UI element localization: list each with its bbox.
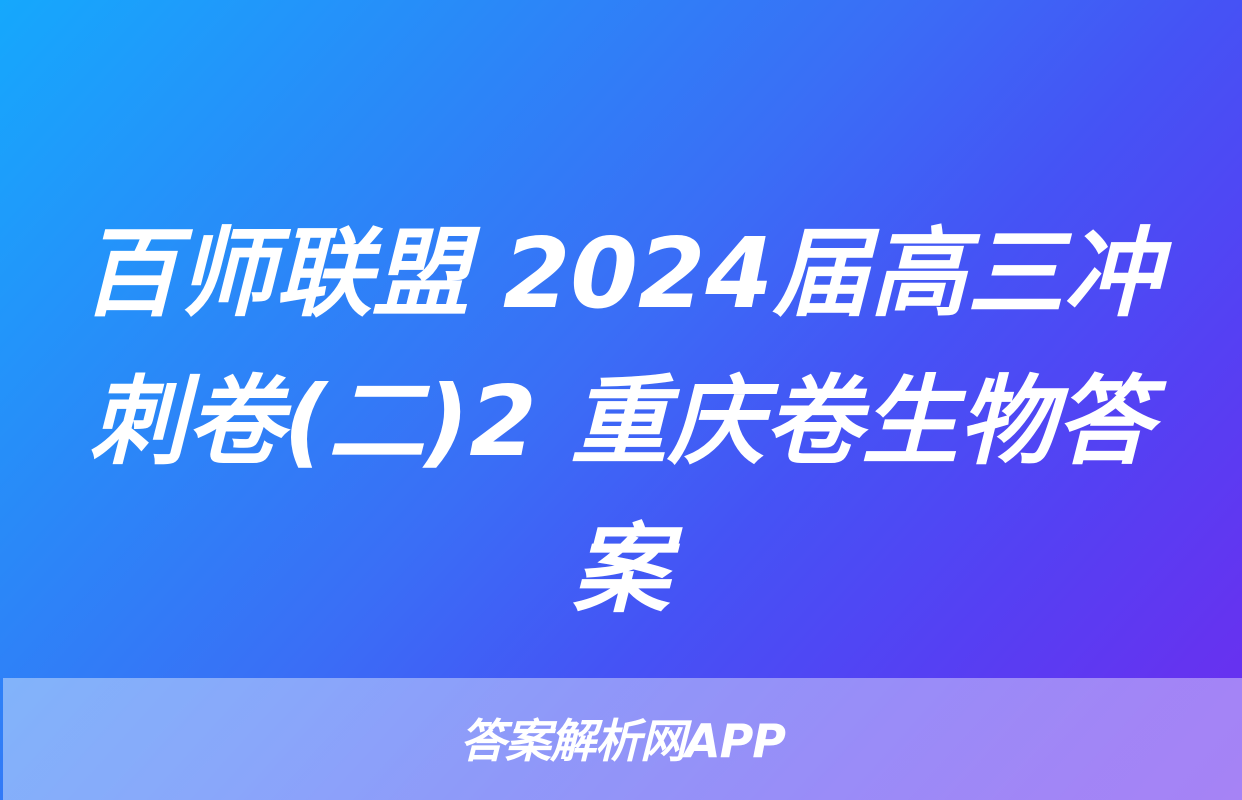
headline-block: 百师联盟 2024届高三冲刺卷(二)2 重庆卷生物答案 [79, 200, 1164, 644]
watermark-band: 答案解析网APP [3, 678, 1242, 800]
poster-canvas: 百师联盟 2024届高三冲刺卷(二)2 重庆卷生物答案 答案解析网APP [0, 0, 1242, 800]
page-title: 百师联盟 2024届高三冲刺卷(二)2 重庆卷生物答案 [79, 200, 1164, 644]
watermark-app-label: 答案解析网APP [460, 718, 785, 764]
